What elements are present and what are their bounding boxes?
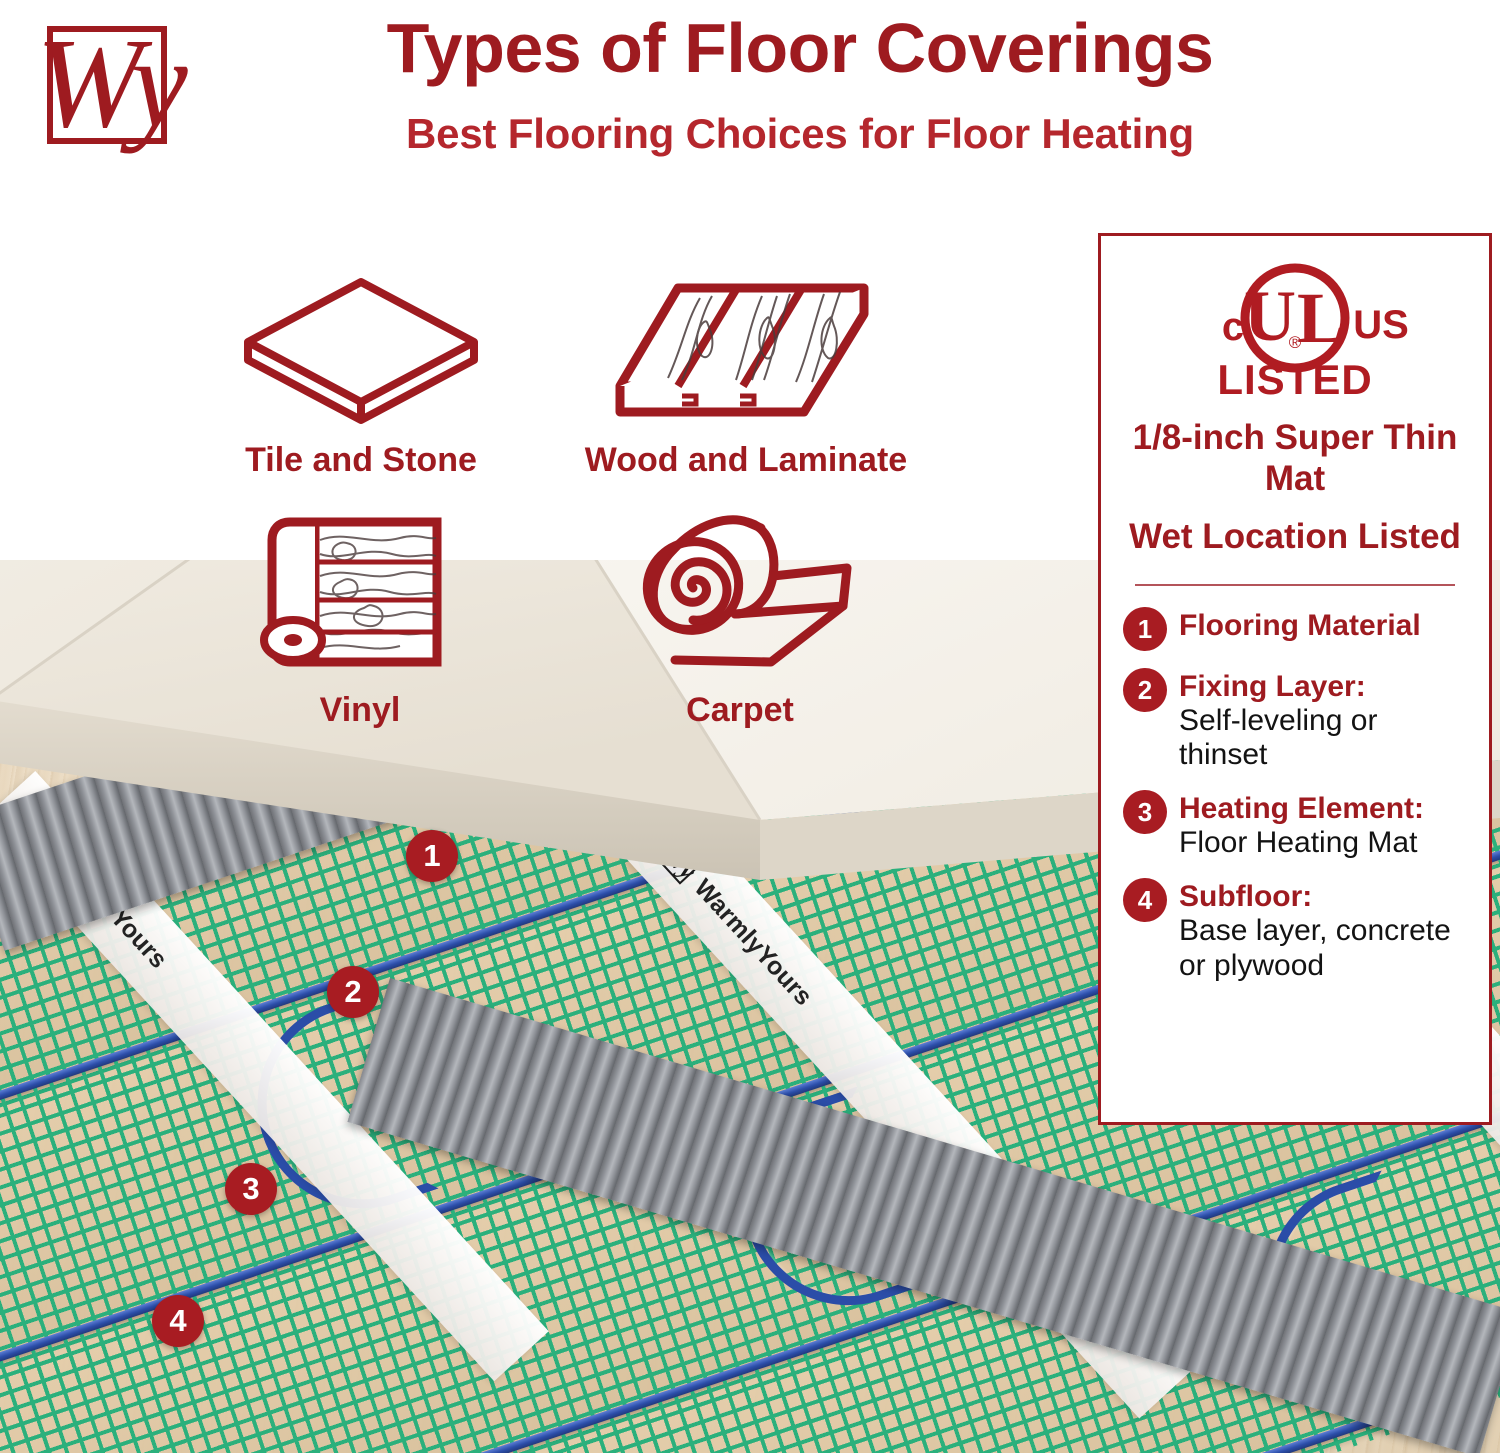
svg-text:c: c	[1222, 305, 1244, 349]
svg-text:L: L	[1297, 278, 1345, 358]
callout-badge-3: 3	[225, 1163, 277, 1215]
carpet-roll-icon	[615, 500, 865, 685]
material-label: Wood and Laminate	[546, 441, 946, 480]
material-carpet: Carpet	[580, 500, 900, 730]
material-icon-grid: Tile and Stone	[0, 250, 1090, 760]
legend-lead: Subfloor:	[1179, 880, 1467, 914]
page-title: Types of Floor Coverings	[200, 8, 1400, 88]
certification-info-panel: U L ® c US LISTED 1/8-inch Super Thin Ma…	[1098, 233, 1492, 1125]
legend-item-4: 4 Subfloor: Base layer, concrete or plyw…	[1123, 877, 1467, 983]
ul-listed-mark: U L ® c US LISTED	[1123, 262, 1467, 404]
material-tile-and-stone: Tile and Stone	[186, 270, 536, 480]
legend-sub: Self-leveling or thinset	[1179, 704, 1467, 774]
legend-number: 3	[1123, 790, 1167, 834]
infographic-canvas: Wy WarmlyYours Wy WarmlyYours Wy WarmlyY…	[0, 0, 1500, 1453]
vinyl-roll-icon	[260, 500, 460, 685]
panel-headline-thickness: 1/8-inch Super Thin Mat	[1123, 418, 1467, 499]
legend-number: 1	[1123, 607, 1167, 651]
material-label: Carpet	[580, 691, 900, 730]
svg-text:US: US	[1353, 303, 1409, 347]
legend-number: 4	[1123, 878, 1167, 922]
legend-lead: Fixing Layer:	[1179, 670, 1467, 704]
callout-badge-4: 4	[152, 1295, 204, 1347]
svg-text:®: ®	[1289, 333, 1302, 352]
legend-item-1: 1 Flooring Material	[1123, 606, 1467, 651]
material-wood-and-laminate: Wood and Laminate	[546, 270, 946, 480]
ul-certification-icon: U L ® c US LISTED	[1145, 262, 1445, 402]
brand-logo-mark: Wy	[36, 8, 186, 168]
svg-text:LISTED: LISTED	[1217, 356, 1372, 402]
page-subtitle: Best Flooring Choices for Floor Heating	[200, 110, 1400, 158]
material-label: Tile and Stone	[186, 441, 536, 480]
material-vinyl: Vinyl	[210, 500, 510, 730]
panel-divider	[1135, 584, 1455, 586]
callout-badge-1: 1	[406, 830, 458, 882]
legend-item-2: 2 Fixing Layer: Self-leveling or thinset	[1123, 667, 1467, 773]
legend-sub: Floor Heating Mat	[1179, 826, 1424, 861]
legend-number: 2	[1123, 668, 1167, 712]
wood-plank-icon	[612, 270, 880, 435]
legend-lead: Flooring Material	[1179, 609, 1421, 643]
legend-sub: Base layer, concrete or plywood	[1179, 914, 1467, 984]
panel-headline-wet-location: Wet Location Listed	[1123, 517, 1467, 558]
legend-item-3: 3 Heating Element: Floor Heating Mat	[1123, 789, 1467, 861]
material-label: Vinyl	[210, 691, 510, 730]
tile-slab-icon	[236, 270, 486, 435]
callout-badge-2: 2	[327, 966, 379, 1018]
page-header: Wy Types of Floor Coverings Best Floorin…	[0, 0, 1500, 230]
legend-lead: Heating Element:	[1179, 792, 1424, 826]
